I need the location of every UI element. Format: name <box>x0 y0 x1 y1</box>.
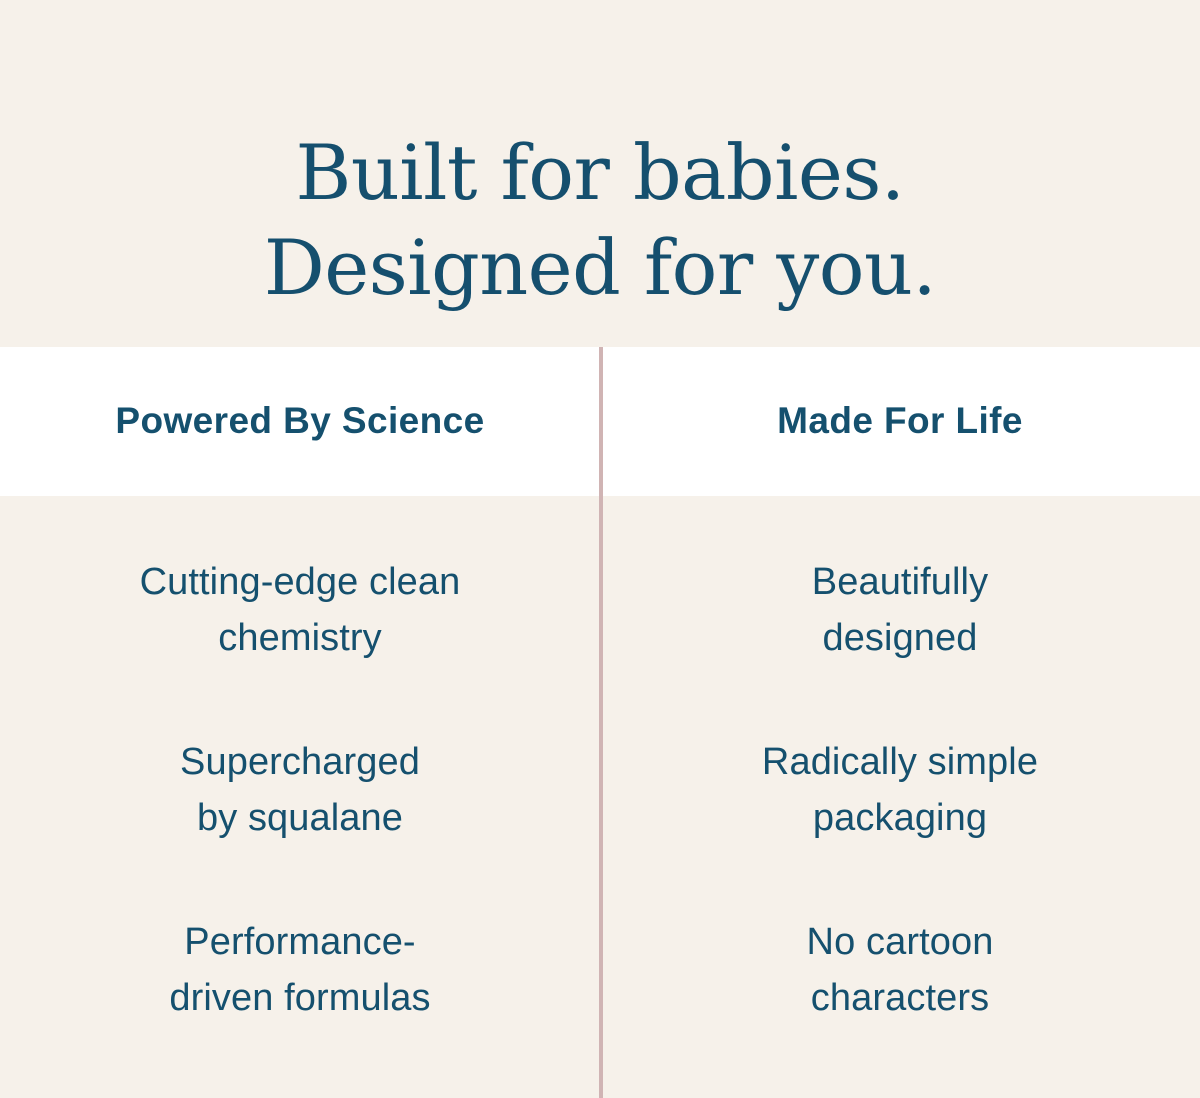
page-title: Built for babies. Designed for you. <box>0 125 1200 315</box>
column-header-label: Powered By Science <box>115 401 484 442</box>
feature-line-2: characters <box>600 970 1200 1026</box>
column-header-made-for-life: Made For Life <box>600 347 1200 496</box>
feature-line-1: Beautifully <box>600 554 1200 610</box>
feature-item: Radically simple packaging <box>600 734 1200 846</box>
page-title-line-1: Built for babies. <box>0 125 1200 220</box>
feature-line-1: Supercharged <box>0 734 600 790</box>
column-header-label: Made For Life <box>777 401 1023 442</box>
feature-line-1: Cutting-edge clean <box>0 554 600 610</box>
feature-column-powered-by-science: Cutting-edge clean chemistry Supercharge… <box>0 496 600 1098</box>
feature-line-1: Performance- <box>0 914 600 970</box>
feature-item: Supercharged by squalane <box>0 734 600 846</box>
feature-line-2: designed <box>600 610 1200 666</box>
feature-item: Performance- driven formulas <box>0 914 600 1026</box>
comparison-panel: Built for babies. Designed for you. Powe… <box>0 0 1200 1098</box>
feature-item: No cartoon characters <box>600 914 1200 1026</box>
feature-item: Beautifully designed <box>600 554 1200 666</box>
feature-line-1: No cartoon <box>600 914 1200 970</box>
column-header-powered-by-science: Powered By Science <box>0 347 600 496</box>
feature-line-2: driven formulas <box>0 970 600 1026</box>
feature-line-1: Radically simple <box>600 734 1200 790</box>
feature-line-2: chemistry <box>0 610 600 666</box>
feature-line-2: packaging <box>600 790 1200 846</box>
feature-column-made-for-life: Beautifully designed Radically simple pa… <box>600 496 1200 1098</box>
page-title-line-2: Designed for you. <box>0 220 1200 315</box>
feature-item: Cutting-edge clean chemistry <box>0 554 600 666</box>
feature-columns: Cutting-edge clean chemistry Supercharge… <box>0 496 1200 1098</box>
feature-line-2: by squalane <box>0 790 600 846</box>
